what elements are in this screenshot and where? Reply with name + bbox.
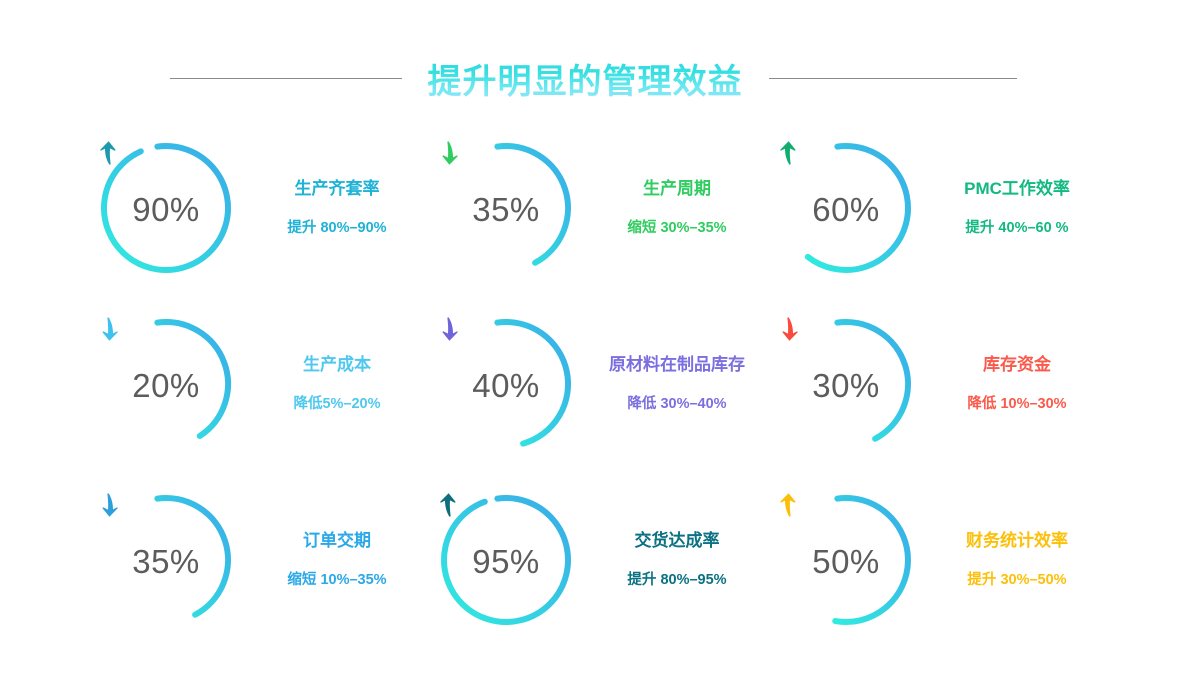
metric-detail: 缩短 30%–35% [627, 220, 726, 237]
progress-ring: 40% [436, 314, 576, 454]
percent-value: 35% [472, 193, 540, 226]
metric-card: 95%交货达成率提升 80%–95% [436, 472, 776, 648]
ring-center: 30% [776, 314, 916, 454]
metric-detail: 提升 80%–95% [627, 572, 726, 589]
percent-value: 20% [132, 369, 200, 402]
metric-detail: 缩短 10%–35% [287, 572, 386, 589]
metric-label: 生产周期 [643, 179, 711, 199]
metric-detail: 提升 30%–50% [967, 572, 1066, 589]
progress-ring: 20% [96, 314, 236, 454]
metric-card: 20%生产成本降低5%–20% [96, 296, 436, 472]
metric-card: 90%生产齐套率提升 80%–90% [96, 120, 436, 296]
header-rule-left [170, 78, 402, 79]
arrow-up-icon [776, 492, 802, 518]
percent-value: 40% [472, 369, 540, 402]
progress-ring: 60% [776, 138, 916, 278]
arrow-down-icon [776, 316, 802, 342]
page-title: 提升明显的管理效益 [428, 54, 743, 103]
percent-value: 95% [472, 545, 540, 578]
metric-text-block: 订单交期缩短 10%–35% [242, 531, 432, 590]
metric-label: 生产成本 [303, 355, 371, 375]
arrow-up-icon [96, 140, 122, 166]
metric-label: 订单交期 [303, 531, 371, 551]
percent-value: 60% [812, 193, 880, 226]
ring-center: 35% [96, 490, 236, 630]
metric-detail: 降低5%–20% [293, 396, 380, 413]
arrow-down-icon [436, 140, 462, 166]
metric-label: 财务统计效率 [966, 531, 1068, 551]
metric-text-block: 生产成本降低5%–20% [242, 355, 432, 414]
metric-card: 35%订单交期缩短 10%–35% [96, 472, 436, 648]
metric-label: 库存资金 [983, 355, 1051, 375]
metric-label: PMC工作效率 [964, 179, 1070, 199]
arrow-down-icon [96, 316, 122, 342]
ring-center: 50% [776, 490, 916, 630]
metric-text-block: 生产周期缩短 30%–35% [582, 179, 772, 238]
metric-detail: 提升 80%–90% [287, 220, 386, 237]
slide-root: 提升明显的管理效益 90%生产齐套率提升 80%–90%35%生产周期缩短 30… [0, 0, 1186, 684]
progress-ring: 35% [436, 138, 576, 278]
ring-center: 95% [436, 490, 576, 630]
arrow-down-icon [436, 316, 462, 342]
ring-center: 35% [436, 138, 576, 278]
metric-card: 50%财务统计效率提升 30%–50% [776, 472, 1116, 648]
metric-detail: 降低 10%–30% [967, 396, 1066, 413]
metric-card: 60%PMC工作效率提升 40%–60 % [776, 120, 1116, 296]
ring-center: 90% [96, 138, 236, 278]
arrow-down-icon [96, 492, 122, 518]
ring-center: 20% [96, 314, 236, 454]
arrow-up-icon [776, 140, 802, 166]
progress-ring: 35% [96, 490, 236, 630]
percent-value: 35% [132, 545, 200, 578]
progress-ring: 30% [776, 314, 916, 454]
arrow-up-icon [436, 492, 462, 518]
metric-text-block: 生产齐套率提升 80%–90% [242, 179, 432, 238]
metric-detail: 降低 30%–40% [627, 396, 726, 413]
metric-text-block: 库存资金降低 10%–30% [922, 355, 1112, 414]
ring-center: 40% [436, 314, 576, 454]
metric-card: 40%原材料在制品库存降低 30%–40% [436, 296, 776, 472]
metric-card: 35%生产周期缩短 30%–35% [436, 120, 776, 296]
metric-text-block: PMC工作效率提升 40%–60 % [922, 179, 1112, 238]
slide-header: 提升明显的管理效益 [0, 52, 1186, 104]
metric-label: 生产齐套率 [295, 179, 380, 199]
metric-text-block: 交货达成率提升 80%–95% [582, 531, 772, 590]
metric-label: 交货达成率 [635, 531, 720, 551]
progress-ring: 95% [436, 490, 576, 630]
percent-value: 30% [812, 369, 880, 402]
header-rule-right [769, 78, 1017, 79]
percent-value: 90% [132, 193, 200, 226]
metric-text-block: 财务统计效率提升 30%–50% [922, 531, 1112, 590]
metrics-grid: 90%生产齐套率提升 80%–90%35%生产周期缩短 30%–35%60%PM… [96, 120, 1096, 648]
metric-text-block: 原材料在制品库存降低 30%–40% [582, 355, 772, 414]
metric-detail: 提升 40%–60 % [965, 220, 1068, 237]
metric-card: 30%库存资金降低 10%–30% [776, 296, 1116, 472]
progress-ring: 90% [96, 138, 236, 278]
metric-label: 原材料在制品库存 [609, 355, 745, 375]
percent-value: 50% [812, 545, 880, 578]
progress-ring: 50% [776, 490, 916, 630]
ring-center: 60% [776, 138, 916, 278]
